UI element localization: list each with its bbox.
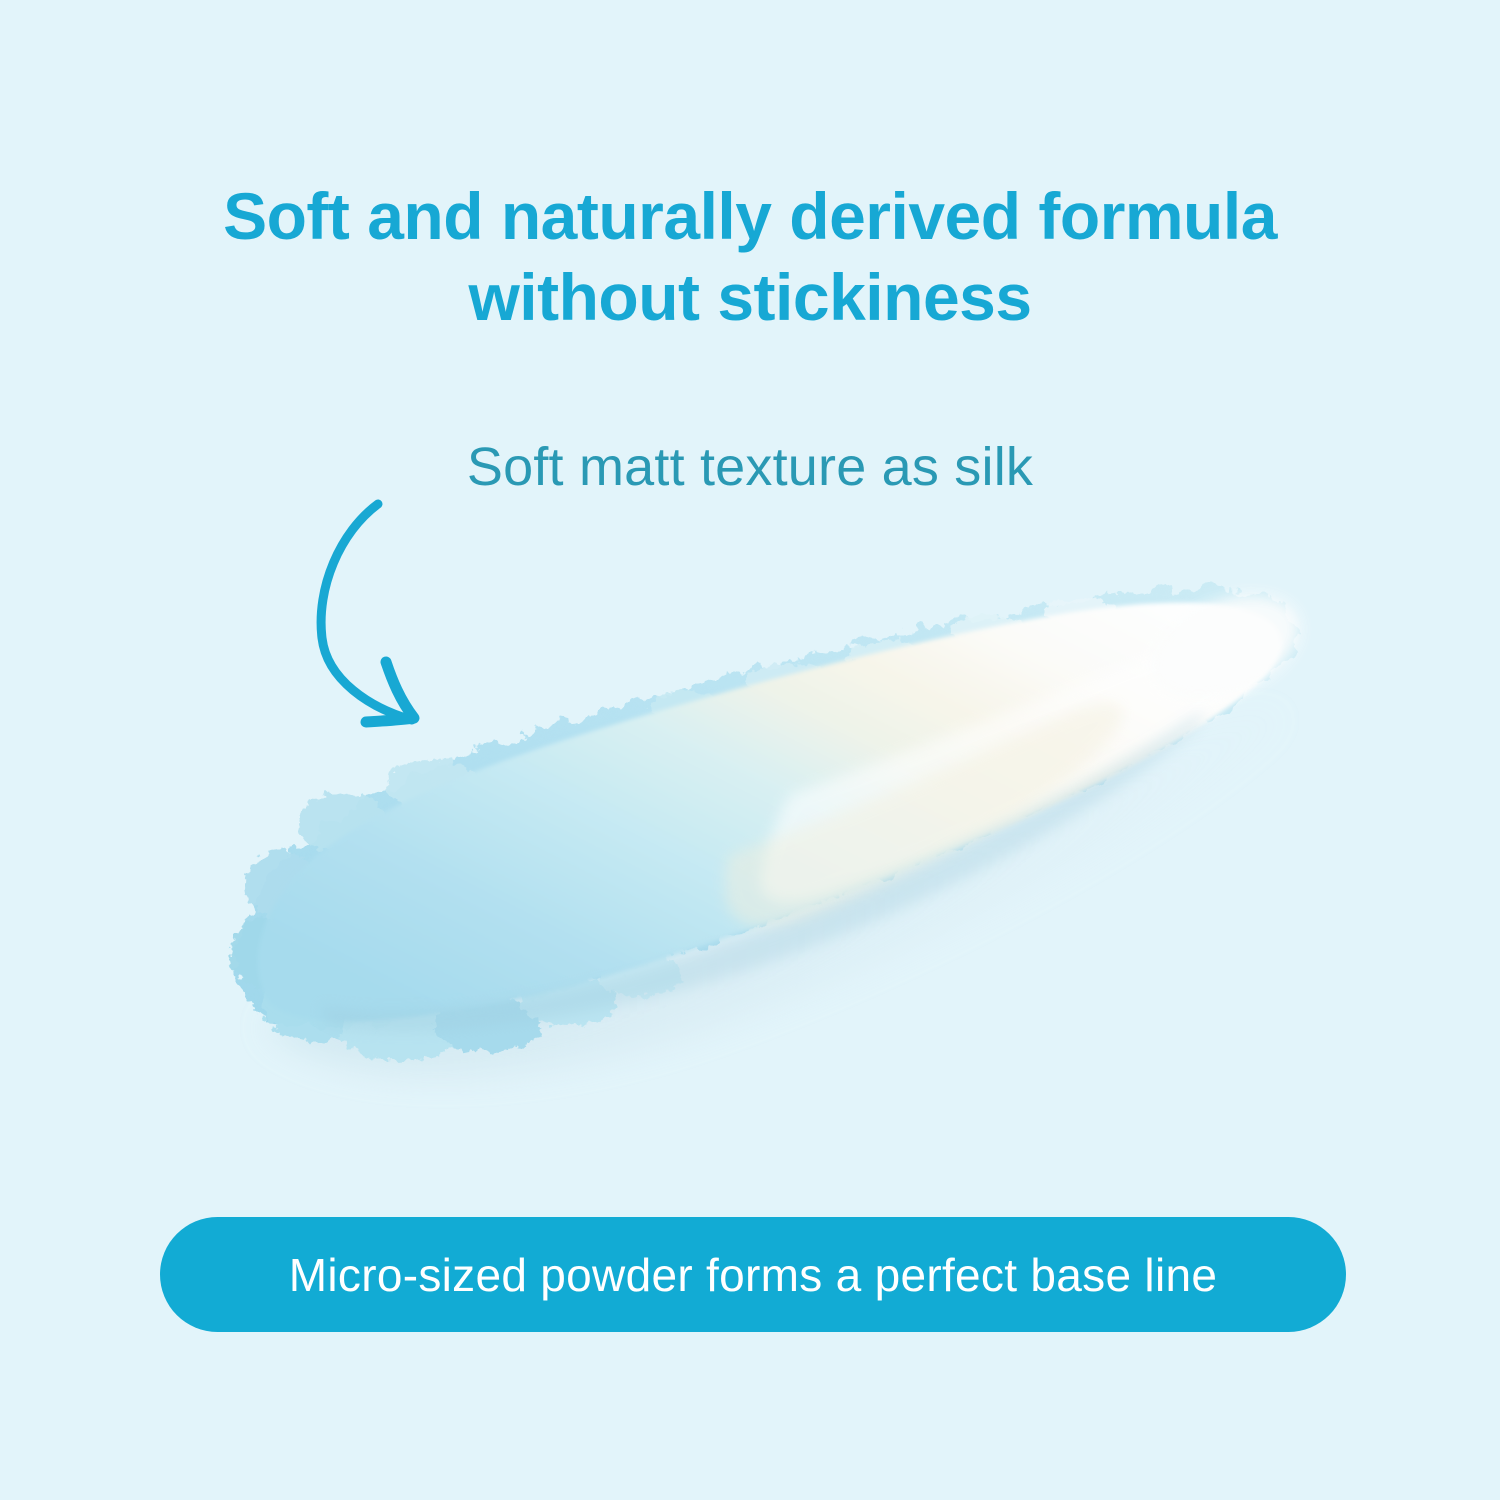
marketing-image-canvas: Soft and naturally derived formula witho… (0, 0, 1500, 1500)
page-title: Soft and naturally derived formula witho… (0, 176, 1500, 338)
cream-powder-swatch (170, 555, 1370, 1115)
callout-label: Soft matt texture as silk (0, 435, 1500, 499)
bottom-banner: Micro-sized powder forms a perfect base … (160, 1217, 1346, 1332)
banner-label: Micro-sized powder forms a perfect base … (289, 1252, 1217, 1298)
